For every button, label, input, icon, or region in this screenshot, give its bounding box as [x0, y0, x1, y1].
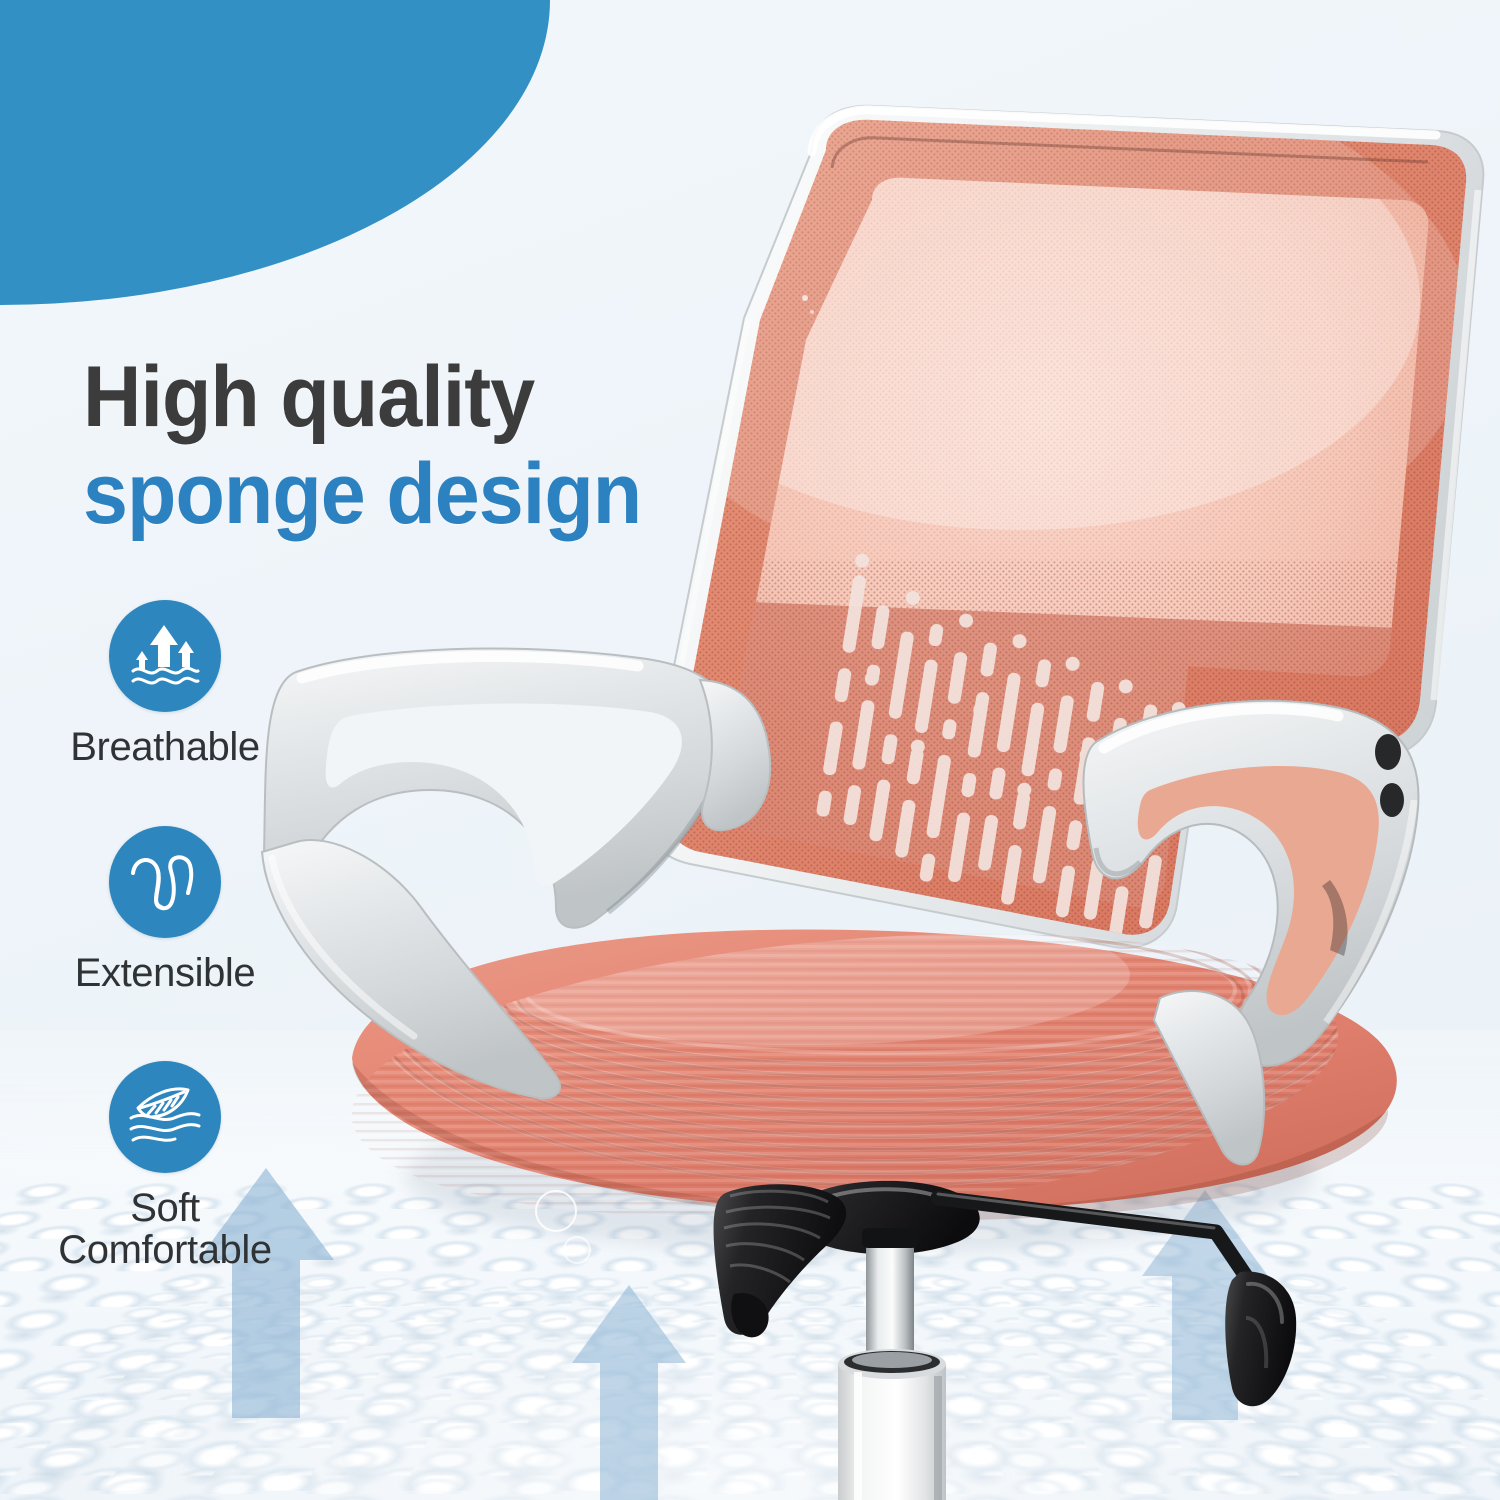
breathable-icon-badge: [109, 600, 221, 712]
extensible-icon-badge: [109, 826, 221, 938]
feature-extensible: Extensible: [0, 826, 330, 994]
headline-line-1: High quality: [83, 352, 641, 443]
armrest-hole-1: [1375, 734, 1401, 770]
feature-breathable: Breathable: [0, 600, 330, 768]
feather-on-waves-icon: [126, 1084, 204, 1150]
soft-comfortable-icon-badge: [109, 1061, 221, 1173]
foam-bubble-2: [563, 1236, 591, 1264]
feature-label-extensible: Extensible: [0, 952, 330, 994]
armrest-hole-2: [1380, 783, 1404, 817]
product-infographic-canvas: High quality sponge design Breath: [0, 0, 1500, 1500]
airflow-arrows-waves-icon: [128, 621, 202, 691]
foam-bubble-1: [535, 1190, 577, 1232]
headline-line-2: sponge design: [83, 449, 641, 540]
feature-label-comfortable: Comfortable: [0, 1229, 330, 1271]
tilt-tension-knob: [714, 1184, 847, 1337]
feature-label-breathable: Breathable: [0, 726, 330, 768]
gas-cylinder-chrome: [866, 1236, 914, 1366]
feature-soft-comfortable: Soft Comfortable: [0, 1061, 330, 1272]
stretch-coil-wave-icon: [128, 851, 202, 913]
page-title: High quality sponge design: [83, 352, 677, 540]
feature-list: Breathable Extensible: [0, 600, 330, 1272]
feature-label-soft: Soft: [0, 1187, 330, 1229]
